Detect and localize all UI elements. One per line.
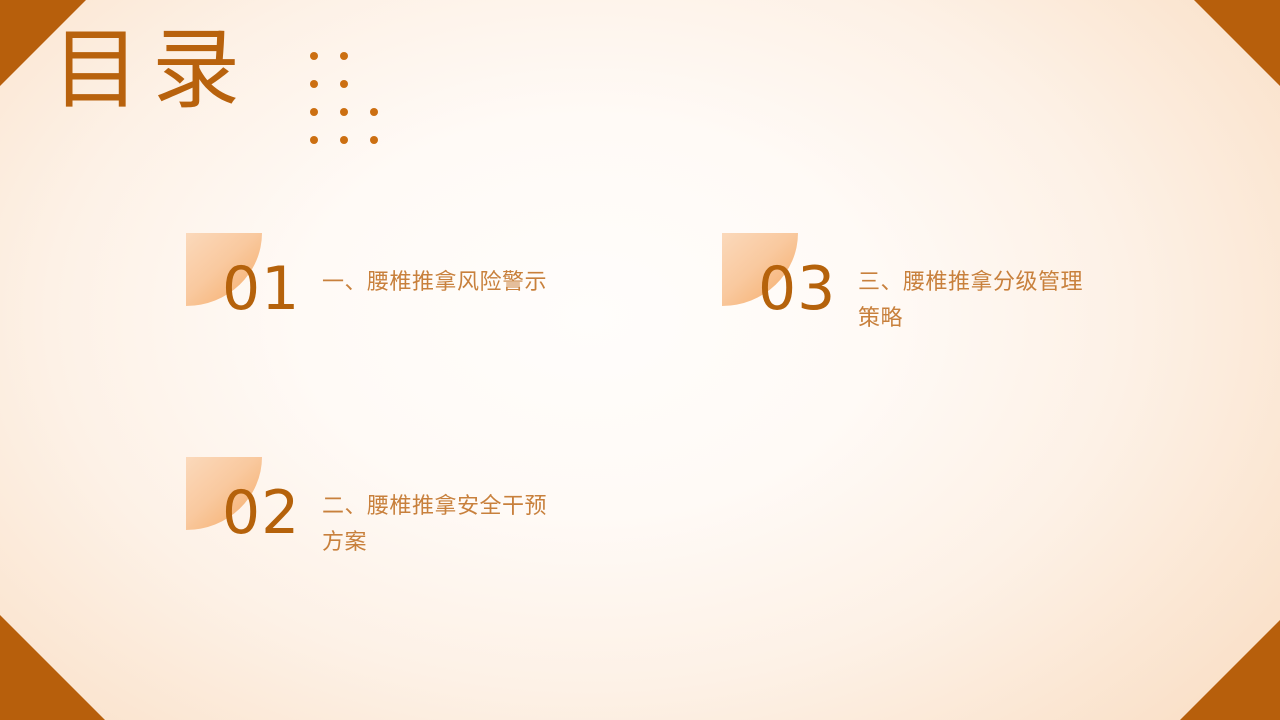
agenda-items: 01 一、腰椎推拿风险警示 02 二、腰椎推拿安全干预方案 03 三、腰椎推拿分…	[0, 0, 1280, 720]
agenda-number-wrap: 01	[186, 233, 304, 333]
agenda-item-02[interactable]: 02 二、腰椎推拿安全干预方案	[186, 457, 554, 560]
agenda-item-01[interactable]: 01 一、腰椎推拿风险警示	[186, 233, 554, 333]
agenda-number-wrap: 02	[186, 457, 304, 557]
agenda-item-label: 二、腰椎推拿安全干预方案	[322, 489, 554, 560]
agenda-number: 01	[222, 259, 300, 319]
agenda-number-wrap: 03	[722, 233, 840, 333]
agenda-number: 02	[222, 483, 300, 543]
agenda-number: 03	[758, 259, 836, 319]
slide-root: 目录 01 一、腰椎推拿风险警示	[0, 0, 1280, 720]
agenda-item-03[interactable]: 03 三、腰椎推拿分级管理策略	[722, 233, 1090, 336]
agenda-item-label: 一、腰椎推拿风险警示	[322, 265, 554, 301]
agenda-item-label: 三、腰椎推拿分级管理策略	[858, 265, 1090, 336]
